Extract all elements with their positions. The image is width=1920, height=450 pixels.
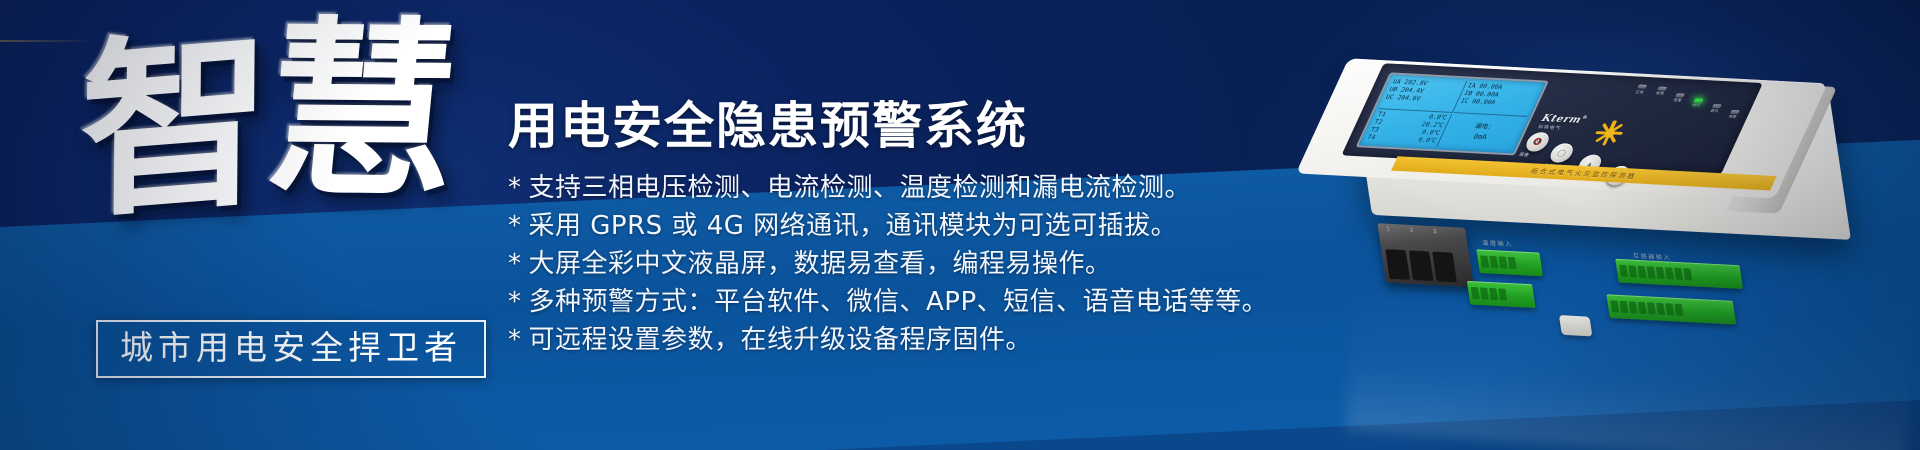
- bullet-marker: *: [508, 246, 522, 284]
- lcd-t4-name: T4: [1365, 134, 1376, 142]
- terminal-number-3: 3: [1433, 229, 1437, 235]
- list-item-text: 大屏全彩中文液晶屏，数据易查看，编程易操作。: [529, 249, 1112, 279]
- list-item: *采用 GPRS 或 4G 网络通讯，通讯模块为可选可插拔。: [508, 208, 1338, 246]
- led-label-normal: 正常: [1634, 90, 1644, 95]
- led-label-alarm: 报警: [1672, 98, 1682, 103]
- lcd-leakage-value: 0mA: [1472, 132, 1489, 141]
- bullet-marker: *: [508, 322, 522, 360]
- list-item: *大屏全彩中文液晶屏，数据易查看，编程易操作。: [508, 246, 1338, 284]
- led-indicator-group: 正常 故障 报警 运行 通讯 预警: [1621, 90, 1756, 129]
- list-item-text: 支持三相电压检测、电流检测、温度检测和漏电流检测。: [529, 173, 1192, 203]
- terminal-number-1: 1: [1386, 227, 1390, 233]
- product-device-image: UA 202.8V UB 204.4V UC 204.6V IA 00.00A …: [1321, 0, 1920, 428]
- list-item: *可远程设置参数，在线升级设备程序固件。: [508, 322, 1338, 360]
- mute-button-label: 消音: [1518, 152, 1530, 158]
- terminal-block-ct-upper: [1615, 259, 1743, 289]
- terminal-block-temperature-lower: [1467, 281, 1536, 308]
- lcd-current-cell: IA 00.00A IB 00.00A IC 00.00A: [1453, 81, 1542, 117]
- registered-icon: ®: [1581, 115, 1589, 121]
- din-rail-clip: [1559, 315, 1593, 336]
- lcd-leakage-cell: 漏电： 0mA: [1438, 114, 1527, 150]
- promo-banner: 智慧 城市用电安全捍卫者 用电安全隐患预警系统 *支持三相电压检测、电流检测、温…: [0, 0, 1920, 450]
- list-item-text: 多种预警方式：平台软件、微信、APP、短信、语音电话等等。: [529, 287, 1269, 317]
- led-label-run: 运行: [1691, 103, 1701, 108]
- power-terminal-block: 1 2 3: [1377, 223, 1474, 287]
- confirm-button-label: 确定: [1599, 186, 1611, 192]
- terminal-block-ct-lower: [1606, 294, 1736, 324]
- lcd-leakage-label: 漏电：: [1473, 123, 1495, 132]
- list-item-text: 可远程设置参数，在线升级设备程序固件。: [529, 325, 1033, 355]
- calligraphy-logo: 智慧: [69, 17, 507, 308]
- led-run-active: [1694, 98, 1704, 102]
- tagline-box: 城市用电安全捍卫者: [96, 320, 486, 378]
- lcd-voltage-cell: UA 202.8V UB 204.4V UC 204.6V: [1378, 77, 1467, 113]
- terminal-number-2: 2: [1409, 228, 1413, 234]
- bullet-marker: *: [508, 208, 522, 246]
- led-label-fault: 故障: [1655, 91, 1665, 96]
- list-item-text: 采用 GPRS 或 4G 网络通讯，通讯模块为可选可插拔。: [529, 211, 1178, 241]
- led-label-comm: 通讯: [1709, 109, 1719, 114]
- feature-list: *支持三相电压检测、电流检测、温度检测和漏电流检测。 *采用 GPRS 或 4G…: [508, 170, 1338, 360]
- bullet-marker: *: [508, 284, 522, 322]
- list-item: *多种预警方式：平台软件、微信、APP、短信、语音电话等等。: [508, 284, 1338, 322]
- copy-block: 用电安全隐患预警系统 *支持三相电压检测、电流检测、温度检测和漏电流检测。 *采…: [508, 98, 1338, 360]
- lcd-t4-value: 0.0℃: [1416, 137, 1437, 146]
- calligraphy-char-1: 智: [79, 24, 277, 229]
- device-lcd-screen: UA 202.8V UB 204.4V UC 204.6V IA 00.00A …: [1356, 72, 1549, 155]
- terminal-label-temperature: 温度输入: [1482, 238, 1514, 249]
- brand-subtitle: 科特电气: [1537, 124, 1562, 131]
- list-item: *支持三相电压检测、电流检测、温度检测和漏电流检测。: [508, 170, 1338, 208]
- calligraphy-char-2: 慧: [258, 15, 472, 207]
- reset-button[interactable]: ◯: [1547, 143, 1576, 163]
- led-label-warn: 预警: [1727, 115, 1737, 120]
- lcd-temperature-cell: T10.0℃ T228.2℃ T30.0℃ T40.0℃: [1363, 110, 1452, 146]
- page-title: 用电安全隐患预警系统: [508, 98, 1338, 154]
- bullet-marker: *: [508, 170, 522, 208]
- tagline-text: 城市用电安全捍卫者: [120, 331, 462, 364]
- terminal-block-temperature-upper: [1476, 249, 1543, 276]
- mute-button[interactable]: 🔇: [1523, 132, 1552, 152]
